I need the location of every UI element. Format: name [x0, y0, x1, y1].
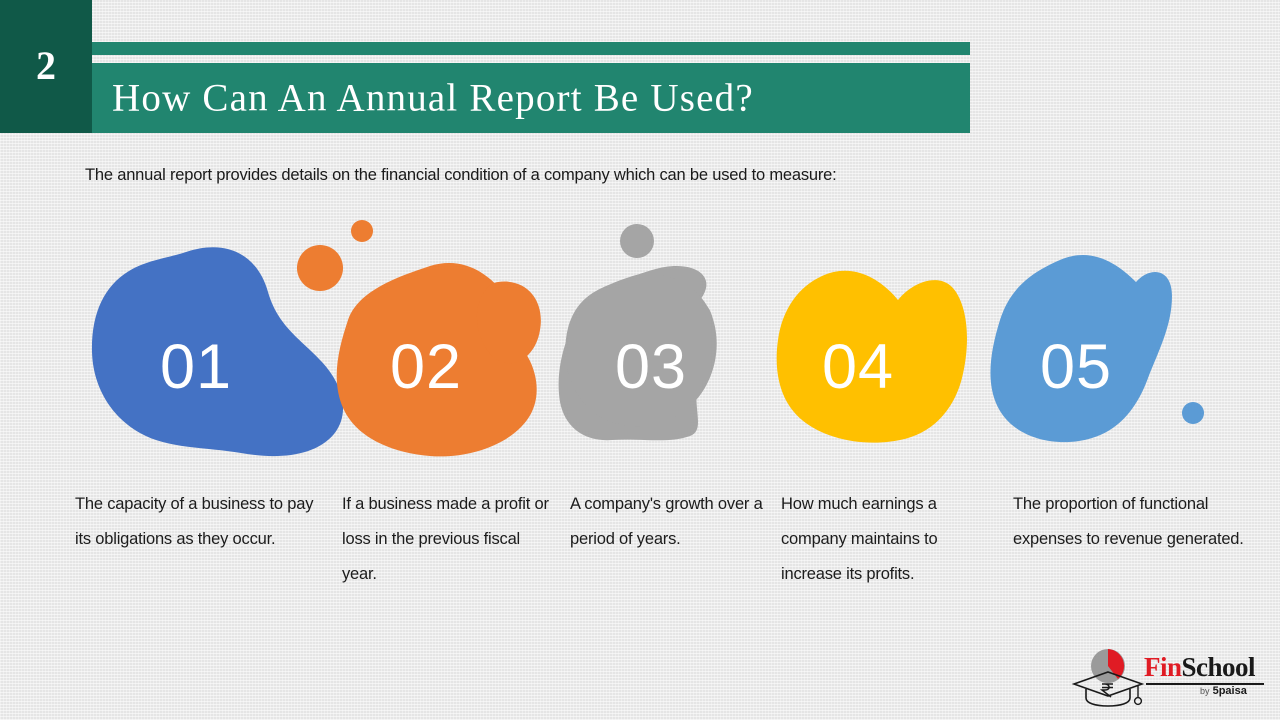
header-title-bar: How Can An Annual Report Be Used? [92, 63, 970, 133]
logo-by-word: by [1200, 686, 1210, 696]
blob-shape-02-lobe [477, 282, 541, 364]
logo-byline: by 5paisa [1200, 685, 1247, 697]
blob-number-04: 04 [822, 336, 894, 399]
accent-dot-orange-small [351, 220, 373, 242]
accent-dot-gray [620, 224, 654, 258]
logo-school-text: School [1182, 652, 1256, 682]
slide-number: 2 [0, 46, 92, 86]
accent-dot-light-blue [1182, 402, 1204, 424]
finschool-logo: FinSchool by 5paisa [1068, 646, 1268, 708]
intro-paragraph: The annual report provides details on th… [85, 158, 925, 192]
slide-number-block: 2 [0, 0, 92, 133]
blob-number-01: 01 [160, 336, 232, 399]
logo-brand-name: 5paisa [1213, 685, 1247, 697]
logo-fin-text: Fin [1144, 652, 1182, 682]
caption-item-04: How much earnings a company maintains to… [781, 487, 986, 592]
page-title: How Can An Annual Report Be Used? [112, 76, 754, 121]
caption-item-05: The proportion of functional expenses to… [1013, 487, 1261, 557]
graduation-cap-icon [1068, 646, 1148, 708]
blob-number-05: 05 [1040, 336, 1112, 399]
header-accent-bar [92, 42, 970, 55]
accent-dot-orange-large [297, 245, 343, 291]
blob-number-02: 02 [390, 336, 462, 399]
logo-wordmark: FinSchool [1144, 652, 1255, 683]
caption-item-02: If a business made a profit or loss in t… [342, 487, 557, 592]
slide-canvas: 2 How Can An Annual Report Be Used? The … [0, 0, 1280, 720]
accent-dot-blue-small [288, 420, 312, 444]
caption-item-03: A company's growth over a period of year… [570, 487, 780, 557]
caption-item-01: The capacity of a business to pay its ob… [75, 487, 323, 557]
blob-number-03: 03 [615, 336, 687, 399]
